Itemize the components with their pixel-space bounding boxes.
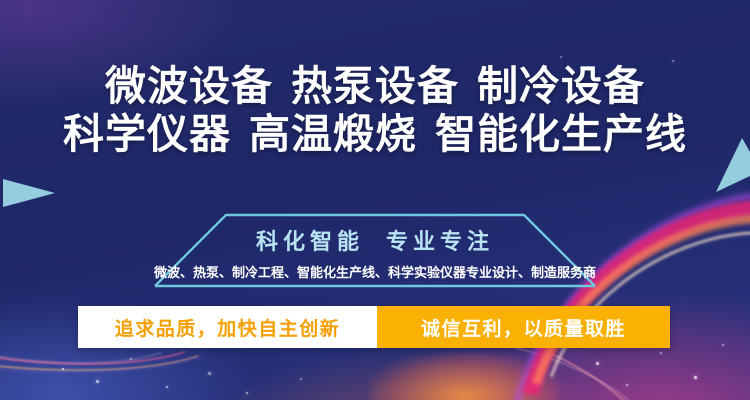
headline-word-3: 制冷设备: [477, 63, 645, 109]
headline-line-1: 微波设备热泵设备制冷设备: [0, 62, 750, 110]
promo-banner: 微波设备热泵设备制冷设备 科学仪器高温煅烧智能化生产线 科化智能专业专注 微波、…: [0, 0, 750, 400]
slogan-frame: 科化智能专业专注 微波、热泵、制冷工程、智能化生产线、科学实验仪器专业设计、制造…: [150, 210, 600, 288]
tagline-right: 诚信互利，以质量取胜: [377, 306, 670, 348]
headline-word-2: 热泵设备: [291, 63, 459, 109]
tagline-bar-group: 追求品质，加快自主创新 诚信互利，以质量取胜: [78, 306, 670, 348]
tagline-left: 追求品质，加快自主创新: [78, 306, 377, 348]
triangle-right-icon: [3, 179, 55, 207]
slogan-right: 专业专注: [386, 229, 494, 254]
headline-line-2: 科学仪器高温煅烧智能化生产线: [0, 110, 750, 158]
slogan-left: 科化智能: [256, 229, 364, 254]
headline-word-5: 高温煅烧: [249, 111, 417, 157]
headline-word-6: 智能化生产线: [435, 111, 687, 157]
headline-word-4: 科学仪器: [63, 111, 231, 157]
page-title: 微波设备热泵设备制冷设备 科学仪器高温煅烧智能化生产线: [0, 62, 750, 158]
slogan-text: 科化智能专业专注: [150, 224, 600, 256]
business-description: 微波、热泵、制冷工程、智能化生产线、科学实验仪器专业设计、制造服务商: [140, 262, 610, 281]
orange-glow-blob: [370, 352, 560, 400]
headline-word-1: 微波设备: [105, 63, 273, 109]
